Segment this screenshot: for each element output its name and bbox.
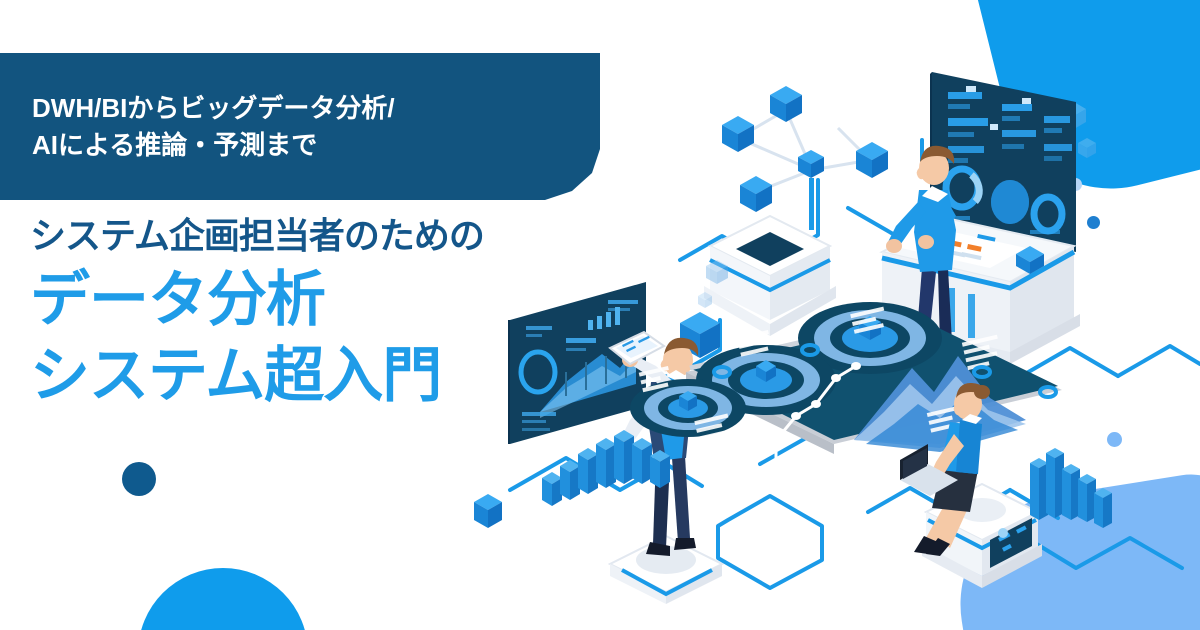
cube-network: [722, 86, 888, 230]
banner-text: DWH/BIからビッグデータ分析/ AIによる推論・予測まで: [32, 90, 395, 164]
decorative-blob-bottom-left: [138, 568, 308, 630]
bar-chart-3d: [542, 430, 670, 506]
headline-title: データ分析 システム超入門: [30, 262, 441, 413]
bar-chart-3d-right: [1030, 448, 1112, 528]
header-banner: DWH/BIからビッグデータ分析/ AIによる推論・予測まで: [0, 53, 600, 200]
banner-image: DWH/BIからビッグデータ分析/ AIによる推論・予測まで システム企画担当者…: [0, 0, 1200, 630]
decorative-dot-navy: [122, 462, 156, 496]
headline-subtitle: システム企画担当者のための: [30, 207, 484, 259]
